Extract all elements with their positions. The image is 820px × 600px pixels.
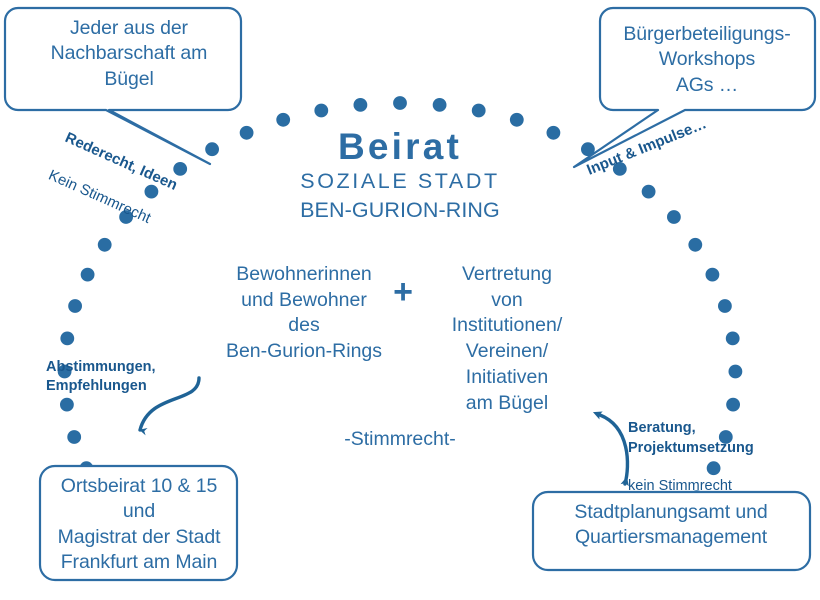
center-title: Beirat SOZIALE STADT BEN-GURION-RING [250,128,550,223]
center-title-line2: SOZIALE STADT [250,165,550,198]
connector-label-bottom-right: Beratung, Projektumsetzung kein Stimmrec… [628,400,754,516]
center-column-left: Bewohnerinnen und Bewohner des Ben-Gurio… [216,262,392,365]
center-column-right: Vertretung von Institutionen/ Vereinen/ … [424,262,590,416]
connector-label-bottom-right-bold: Beratung, Projektumsetzung [628,419,754,458]
plus-symbol: + [385,275,421,309]
connector-label-bottom-left: Abstimmungen, Empfehlungen [46,358,156,397]
connector-label-bottom-right-regular: kein Stimmrecht [628,477,754,496]
arrow-bottom-right-double [600,415,627,484]
bubble-top-left-label: Jeder aus der Nachbarschaft am Bügel [22,16,236,92]
center-footer-note: -Stimmrecht- [300,428,500,451]
box-bottom-left-label: Ortsbeirat 10 & 15 und Magistrat der Sta… [44,474,234,575]
diagram-canvas: Beirat SOZIALE STADT BEN-GURION-RING Bew… [0,0,820,600]
center-title-line1: Beirat [250,128,550,165]
bubble-top-right-label: Bürgerbeteiligungs- Workshops AGs … [604,22,810,98]
center-title-line3: BEN-GURION-RING [250,198,550,223]
